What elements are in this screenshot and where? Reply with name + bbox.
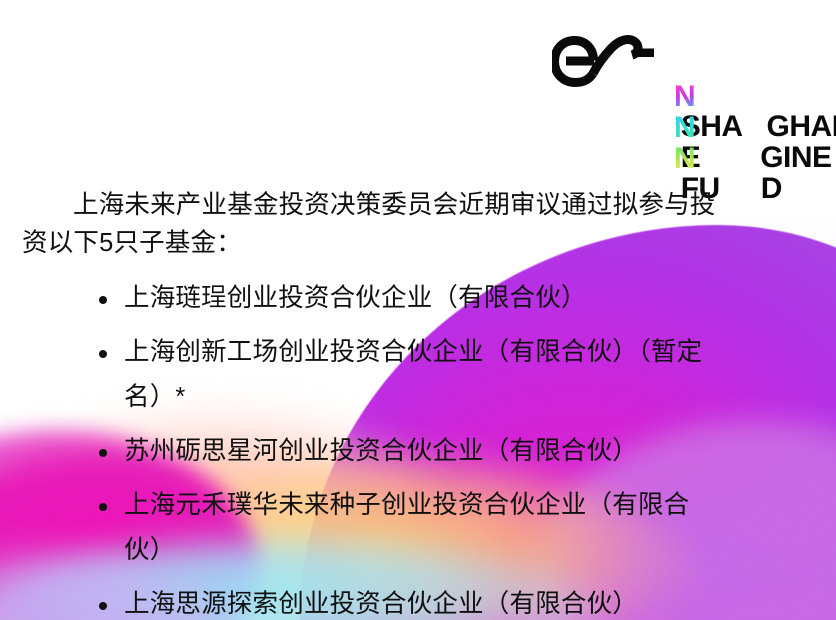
gradient-letter-n-3: N (674, 144, 698, 174)
list-item: 上海元禾璞华未来种子创业投资合伙企业（有限合伙） (0, 483, 836, 573)
fund-name: 上海思源探索创业投资合伙企业（有限合伙） (124, 582, 716, 620)
slide-content: 上海未来产业基金投资决策委员会近期审议通过拟参与投资以下5只子基金： 上海琏珵创… (0, 186, 836, 620)
list-item: 上海琏珵创业投资合伙企业（有限合伙） (0, 276, 836, 321)
fund-name: 上海琏珵创业投资合伙企业（有限合伙） (124, 276, 716, 321)
lead-paragraph: 上海未来产业基金投资决策委员会近期审议通过拟参与投资以下5只子基金： (0, 186, 836, 262)
fund-name: 苏州砺思星河创业投资合伙企业（有限合伙） (124, 429, 716, 474)
fund-name: 上海创新工场创业投资合伙企业（有限合伙）（暂定名）* (124, 330, 716, 420)
list-item: 上海思源探索创业投资合伙企业（有限合伙） (0, 582, 836, 620)
logo-wordmark: SHAGHAI EGINE FUD N N N (618, 82, 798, 174)
list-item: 上海创新工场创业投资合伙企业（有限合伙）（暂定名）* (0, 330, 836, 420)
gradient-letter-n-1: N (674, 82, 698, 112)
shanghai-engine-fund-logo: SHAGHAI EGINE FUD N N N (548, 26, 798, 172)
fund-list: 上海琏珵创业投资合伙企业（有限合伙） 上海创新工场创业投资合伙企业（有限合伙）（… (0, 276, 836, 620)
fund-name: 上海元禾璞华未来种子创业投资合伙企业（有限合伙） (124, 483, 716, 573)
presentation-slide: SHAGHAI EGINE FUD N N N 上海未来产业基金投资决策委员会近… (0, 0, 836, 620)
gradient-letter-n-2: N (674, 113, 698, 143)
wordmark-gradient-n-column: N N N (674, 82, 698, 174)
list-item: 苏州砺思星河创业投资合伙企业（有限合伙） (0, 429, 836, 474)
